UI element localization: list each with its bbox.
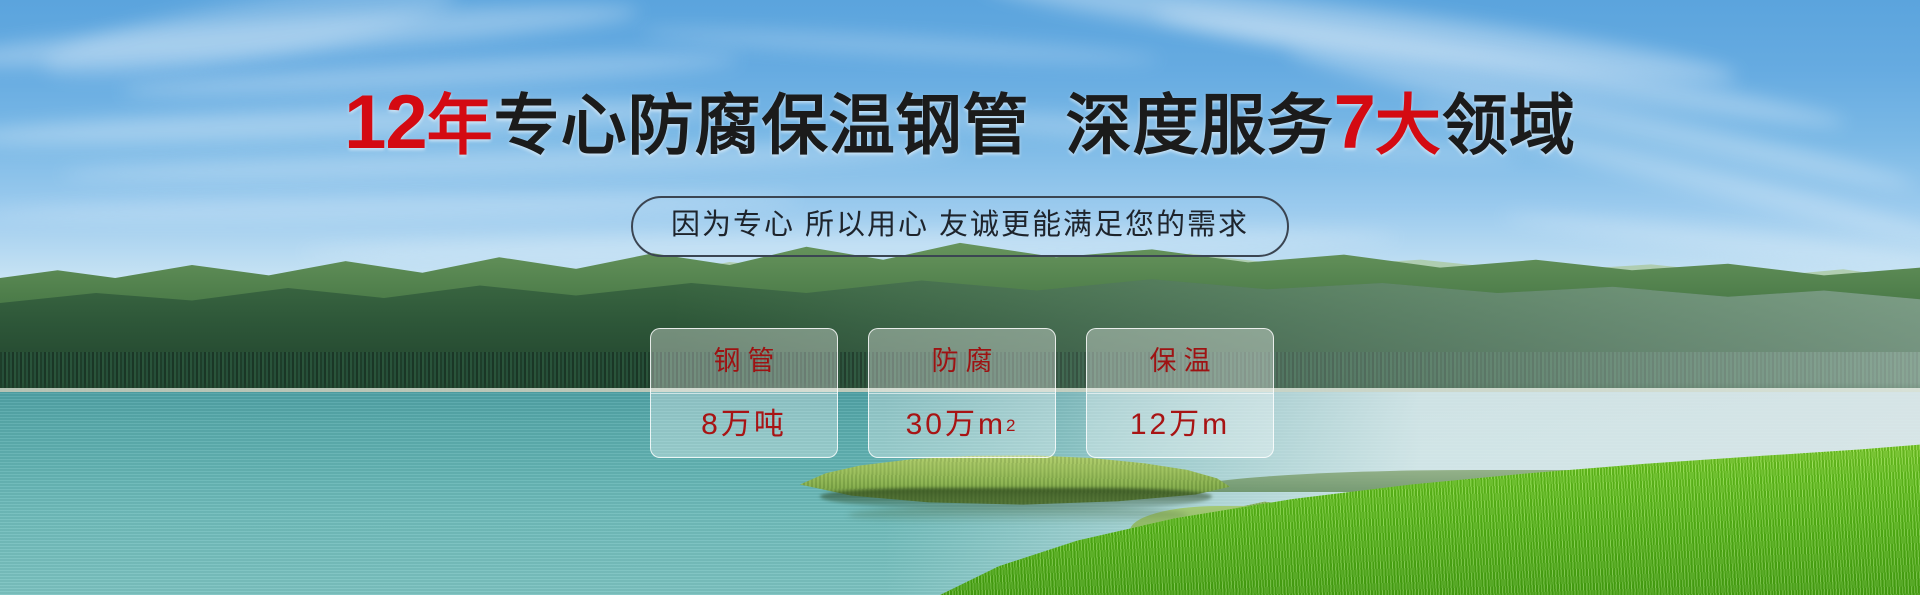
headline-main-text: 专心防腐保温钢管 [494, 88, 1030, 162]
banner-subtitle-wrapper: 因为专心 所以用心 友诚更能满足您的需求 [0, 196, 1920, 257]
banner-subtitle-pill: 因为专心 所以用心 友诚更能满足您的需求 [631, 196, 1289, 257]
hero-banner: 12年专心防腐保温钢管深度服务7大领域 因为专心 所以用心 友诚更能满足您的需求… [0, 0, 1920, 595]
headline-service-text: 深度服务 [1066, 88, 1334, 162]
stat-card-value-text: 12万m [1130, 409, 1230, 441]
stat-card-title: 保温 [1143, 329, 1218, 393]
stat-card-divider [651, 393, 837, 394]
headline-fields-text: 领域 [1442, 88, 1576, 162]
stat-card-divider [869, 393, 1055, 394]
stat-card-value-text: 8万吨 [701, 409, 787, 441]
stat-card-divider [1087, 393, 1273, 394]
stat-card-value: 30万m2 [906, 393, 1019, 457]
stat-card-anticorrosion[interactable]: 防腐 30万m2 [868, 328, 1056, 458]
headline-fields-unit: 大 [1375, 88, 1442, 162]
stat-card-value: 12万m [1130, 393, 1230, 457]
stat-card-title: 钢管 [707, 329, 782, 393]
stat-card-steel-pipe[interactable]: 钢管 8万吨 [650, 328, 838, 458]
stat-card-value: 8万吨 [701, 393, 787, 457]
stat-cards: 钢管 8万吨 防腐 30万m2 保温 12万m [650, 328, 1275, 458]
headline-fields-number: 7 [1334, 80, 1375, 165]
banner-content: 12年专心防腐保温钢管深度服务7大领域 因为专心 所以用心 友诚更能满足您的需求… [0, 0, 1920, 595]
stat-card-insulation[interactable]: 保温 12万m [1086, 328, 1274, 458]
stat-card-title: 防腐 [925, 329, 1000, 393]
headline-years-number: 12 [344, 80, 427, 165]
headline-years-unit: 年 [427, 88, 494, 162]
stat-card-value-superscript: 2 [1006, 417, 1018, 434]
banner-headline: 12年专心防腐保温钢管深度服务7大领域 [0, 88, 1920, 160]
stat-card-value-text: 30万m [906, 409, 1006, 441]
